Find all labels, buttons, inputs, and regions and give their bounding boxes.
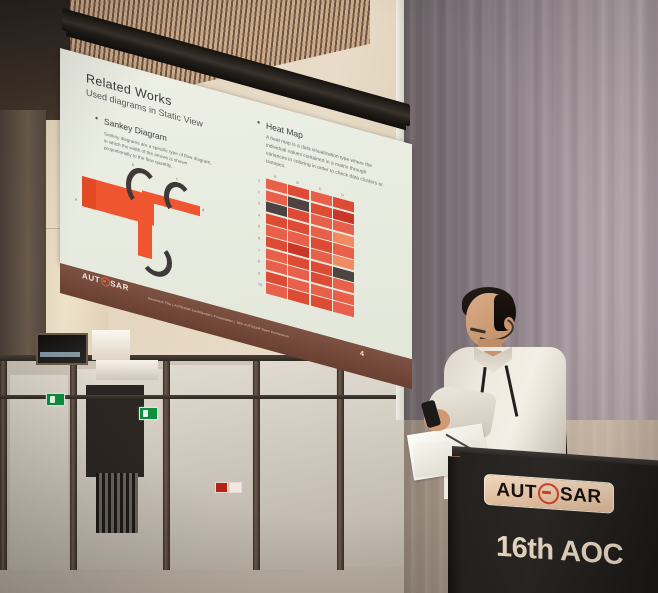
heatmap-row-label: 5 [258, 225, 260, 230]
heatmap-col-label: C [319, 187, 322, 192]
heatmap-row-label: 4 [258, 213, 260, 218]
sankey-label: c [176, 176, 178, 182]
window-bright-panel [96, 360, 158, 380]
heatmap-row-label: 7 [258, 248, 260, 253]
heatmap-row-label: 8 [258, 259, 260, 264]
door-frame [70, 355, 77, 570]
heatmap-row-label: 3 [258, 201, 260, 206]
heatmap-chart: ABCD12345678910 [256, 164, 348, 309]
sankey-node-left [82, 176, 96, 210]
logo-text-left: AUT [82, 271, 100, 285]
sankey-link-c [140, 238, 172, 281]
heatmap-row-label: 6 [258, 236, 260, 241]
exit-sign-icon [46, 393, 65, 406]
sankey-label: a [75, 196, 77, 202]
exit-sign-icon [139, 407, 158, 420]
heatmap-col-label: A [274, 175, 276, 180]
interior-railing [96, 473, 138, 533]
podium-autosar-logo: AUT SAR [484, 474, 614, 514]
glass-pane [260, 361, 336, 569]
podium-event-label: 16th AOC [496, 531, 623, 573]
door-frame [253, 355, 260, 570]
logo-o-icon [101, 276, 110, 287]
logo-text-right: SAR [110, 279, 129, 293]
heatmap-row-label: 1 [258, 178, 260, 183]
heatmap-row-label: 2 [258, 190, 260, 195]
door-frame [337, 355, 344, 570]
sankey-label: b [132, 162, 134, 168]
door-mid-rail [0, 395, 440, 399]
podium: AUT SAR 16th AOC [460, 452, 658, 593]
slide-page-number: 4 [360, 350, 364, 358]
heatmap-col-label: B [296, 181, 298, 186]
podium-logo-o-icon [538, 482, 559, 504]
monitor-reflection [40, 352, 80, 357]
sankey-link-b [164, 178, 192, 220]
sankey-label: d [202, 207, 204, 213]
info-sign-icon [229, 482, 242, 493]
door-frame [0, 355, 7, 570]
fire-equipment-sign-icon [215, 482, 228, 493]
conference-room-photo: Related Works Used diagrams in Static Vi… [0, 0, 658, 593]
heatmap-row-label: 9 [258, 271, 260, 276]
heatmap-col-label: D [341, 193, 344, 198]
projection-screen: Related Works Used diagrams in Static Vi… [44, 6, 444, 336]
heatmap-row-label: 10 [258, 283, 262, 288]
sankey-label: e [166, 263, 168, 269]
podium-logo-text-right: SAR [560, 485, 602, 507]
wall-monitor [36, 333, 88, 365]
door-frame [163, 355, 170, 570]
podium-logo-text-left: AUT [496, 481, 537, 503]
